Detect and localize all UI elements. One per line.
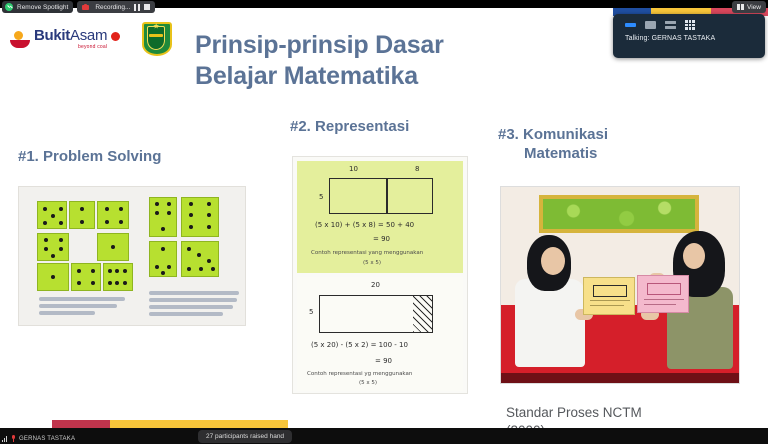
slide-bottom-band-yellow (110, 420, 288, 428)
nctm-caption: Standar Proses NCTM (2000) (506, 404, 746, 428)
label-width: 20 (371, 281, 380, 289)
zoom-top-toolbar: Remove Spotlight Recording... (0, 0, 768, 14)
yellow-card (583, 277, 635, 315)
area-model-worksheet-photo: 10 8 5 (5 x 10) + (5 x 8) = 50 + 40 = 90… (292, 156, 468, 394)
worksheet-bottom-equation: (5 x 20) - (5 x 2) = 100 - 10 (311, 341, 408, 349)
strip-layout-icon[interactable] (665, 21, 676, 29)
worksheet-top-caption-1: Contoh representasi yang menggunakan (311, 250, 423, 256)
shared-screen-slide: BukitAsam beyond coal Prinsip-prinsip Da… (0, 8, 768, 428)
participant-name-label: GERNAS TASTAKA (19, 436, 75, 442)
recording-label: Recording... (95, 4, 130, 11)
worksheet-bottom-note: 20 5 (5 x 20) - (5 x 2) = 100 - 10 = 90 … (297, 277, 463, 391)
record-camera-icon (82, 4, 91, 11)
talking-layout-panel: Talking: GERNAS TASTAKA (613, 14, 765, 58)
title-line-2: Belajar Matematika (195, 61, 555, 92)
signal-strength-icon (2, 436, 8, 442)
title-line-1: Prinsip-prinsip Dasar (195, 30, 555, 61)
slide-bottom-band-red (52, 420, 110, 428)
label-width-left: 10 (349, 165, 358, 173)
worksheet-bottom-result: = 90 (375, 357, 392, 365)
section-heading-komunikasi-matematis: #3. Komunikasi Matematis (498, 126, 688, 164)
page-title: Prinsip-prinsip Dasar Belajar Matematika (195, 30, 555, 91)
two-teachers-holding-cards-photo (500, 186, 740, 384)
company-tagline: beyond coal (34, 44, 107, 50)
handwriting-note-left (39, 297, 131, 318)
label-height: 5 (309, 308, 313, 316)
view-label: View (747, 4, 761, 11)
remove-spotlight-label: Remove Spotlight (17, 4, 68, 11)
worksheet-top-result: = 90 (373, 235, 390, 243)
minimal-layout-icon[interactable] (645, 21, 656, 29)
slide-logos: BukitAsam beyond coal (10, 22, 172, 56)
handwriting-note-right (149, 291, 241, 319)
shield-check-icon (5, 3, 13, 11)
worksheet-top-caption-2: (5 x 5) (363, 260, 381, 266)
worksheet-bottom-caption-1: Contoh representasi yg menggunakan (307, 371, 412, 377)
caption-line-1: Standar Proses NCTM (506, 404, 746, 422)
talking-label: Talking: GERNAS TASTAKA (613, 30, 765, 42)
company-name: BukitAsam (34, 28, 107, 43)
grid-view-icon (737, 4, 744, 10)
view-button[interactable]: View (732, 1, 766, 13)
active-speaker-name-chip: GERNAS TASTAKA (2, 435, 75, 442)
label-height: 5 (319, 193, 323, 201)
label-width-right: 8 (415, 165, 419, 173)
heading3-line2: Matematis (498, 145, 688, 164)
raised-hand-toast[interactable]: 27 participants raised hand (198, 430, 292, 443)
remove-spotlight-button[interactable]: Remove Spotlight (2, 1, 73, 13)
worksheet-top-equation: (5 x 10) + (5 x 8) = 50 + 40 (315, 221, 414, 229)
worksheet-top-note: 10 8 5 (5 x 10) + (5 x 8) = 50 + 40 = 90… (297, 161, 463, 273)
heading3-line1: #3. Komunikasi (498, 126, 608, 143)
bukit-asam-dot-icon (111, 32, 120, 41)
section-heading-problem-solving: #1. Problem Solving (18, 148, 161, 167)
speaker-layout-icon[interactable] (625, 23, 636, 27)
pause-icon[interactable] (134, 4, 140, 11)
worksheet-bottom-caption-2: (5 x 5) (359, 380, 377, 386)
gallery-grid-icon[interactable] (685, 20, 695, 30)
zoom-meeting-window: BukitAsam beyond coal Prinsip-prinsip Da… (0, 0, 768, 444)
domino-cards-photo (18, 186, 246, 326)
section-heading-representasi: #2. Representasi (290, 118, 409, 137)
pink-card (637, 275, 689, 313)
green-shield-emblem-icon (142, 22, 172, 56)
stop-icon[interactable] (144, 4, 150, 10)
zoom-bottom-bar (0, 428, 768, 444)
recording-controls[interactable]: Recording... (77, 1, 155, 13)
bukit-asam-mark-icon (10, 30, 30, 50)
bukit-asam-logo: BukitAsam beyond coal (10, 28, 120, 50)
layout-options (613, 14, 765, 30)
mic-muted-icon (11, 435, 16, 442)
